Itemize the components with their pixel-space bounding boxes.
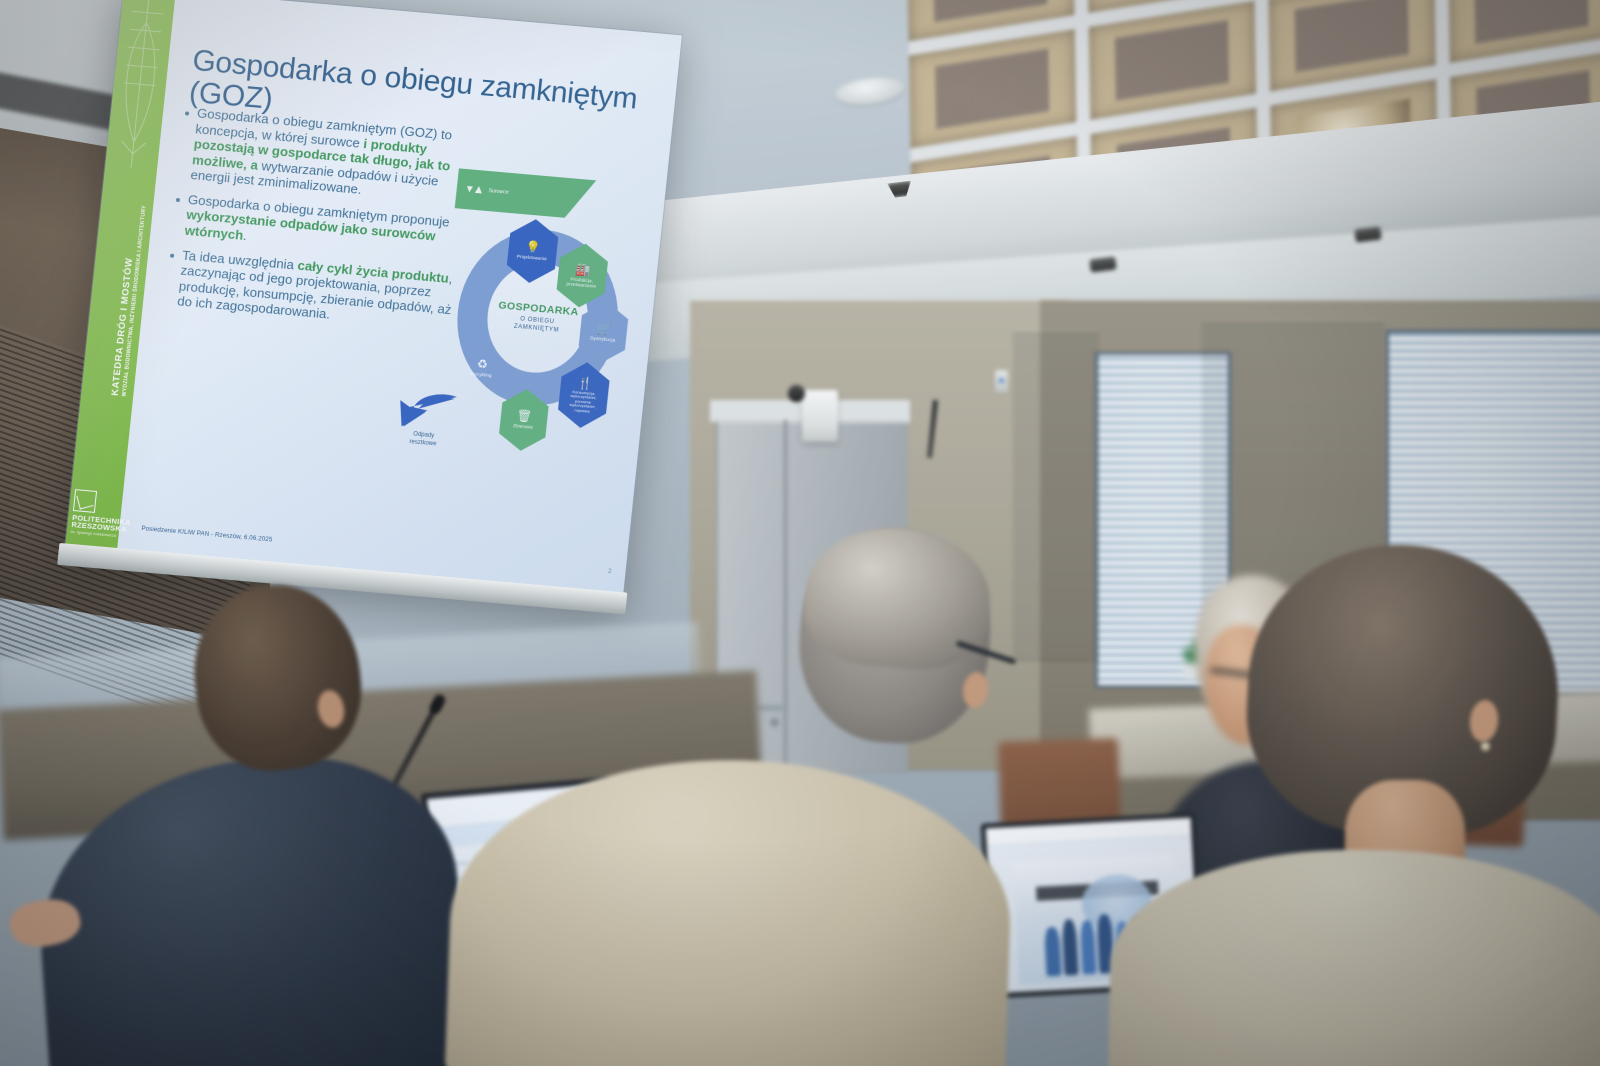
bullet-text-run: . <box>242 228 247 243</box>
slide-bullet-list: Gospodarka o obiegu zamkniętym (GOZ) to … <box>162 104 483 343</box>
segment-label: Dystrybucja <box>590 336 616 343</box>
projection-screen: KATEDRA DRÓG I MOSTÓW WYDZIAŁ BUDOWNICTW… <box>53 0 684 652</box>
outflow-l1: Odpady <box>413 431 435 439</box>
ceiling-coffer-panel <box>1268 0 1436 91</box>
segment-label: Recykling <box>471 372 492 379</box>
lightbulb-head-icon: 💡 <box>525 241 541 254</box>
conference-room-photo: KATEDRA DRÓG I MOSTÓW WYDZIAŁ BUDOWNICTW… <box>0 0 1600 1066</box>
band-vertical-text: KATEDRA DRÓG I MOSTÓW WYDZIAŁ BUDOWNICTW… <box>111 196 149 396</box>
ceiling-coffer-panel <box>909 29 1077 148</box>
factory-tree-icon: 🏭 <box>575 263 591 276</box>
motion-sensor-icon <box>995 370 1008 392</box>
band-decorative-graphic <box>107 0 174 174</box>
acoustic-panel <box>936 48 1050 129</box>
segment-label-l5: naprawa <box>574 408 590 413</box>
outflow-l2: resztkowe <box>409 439 437 447</box>
acoustic-panel <box>1115 20 1229 101</box>
presentation-slide: KATEDRA DRÓG I MOSTÓW WYDZIAŁ BUDOWNICTW… <box>65 0 681 592</box>
slide-footer: Posiedzenie KILiW PAN - Rzeszów, 6.06.20… <box>141 525 273 543</box>
acoustic-panel <box>1475 0 1589 44</box>
acoustic-panel <box>934 0 1048 22</box>
segment-label: Projektowanie <box>517 254 548 262</box>
acoustic-panel <box>1295 0 1409 72</box>
door-center-seam <box>784 420 787 770</box>
water-drop-trees-icon: ▾▲ <box>466 182 485 195</box>
university-logo: POLITECHNIKA RZESZOWSKA im. Ignacego Łuk… <box>70 489 121 538</box>
university-mark-icon <box>73 489 97 513</box>
wall-speaker-icon <box>802 390 838 442</box>
diagram-inflow-banner: ▾▲ Surowce <box>455 168 597 220</box>
circular-economy-diagram: ▾▲ Surowce 💡 Projektowanie 🏭 Produkcja, … <box>417 166 663 513</box>
shopping-cart-icon: 🛒 <box>596 322 612 335</box>
hub-title: GOSPODARKA <box>498 299 579 318</box>
earring-icon <box>1481 742 1490 751</box>
diagram-inflow-label: Surowce <box>488 188 509 196</box>
door-handle-icon[interactable] <box>756 705 786 711</box>
camera-icon <box>788 385 805 402</box>
door-lock-icon[interactable] <box>770 718 779 727</box>
hub-subtitle-l2: ZAMKNIĘTYM <box>514 324 560 334</box>
recycling-arrows-icon: ♻ <box>476 358 488 371</box>
slide-page-number: 2 <box>608 569 612 575</box>
fork-knife-wrench-icon: 🍴 <box>577 377 593 390</box>
ceiling-coffer-panel <box>1448 0 1600 63</box>
curved-arrow-icon <box>395 386 459 435</box>
roller-shade-left[interactable] <box>1013 330 1099 660</box>
segment-label: Zbieranie <box>513 423 534 430</box>
ceiling-coffer-panel <box>1089 1 1257 120</box>
slide-bullet: Ta idea uwzględnia cały cykl życia produ… <box>163 246 468 334</box>
trash-recycle-icon: 🗑 <box>516 410 532 423</box>
